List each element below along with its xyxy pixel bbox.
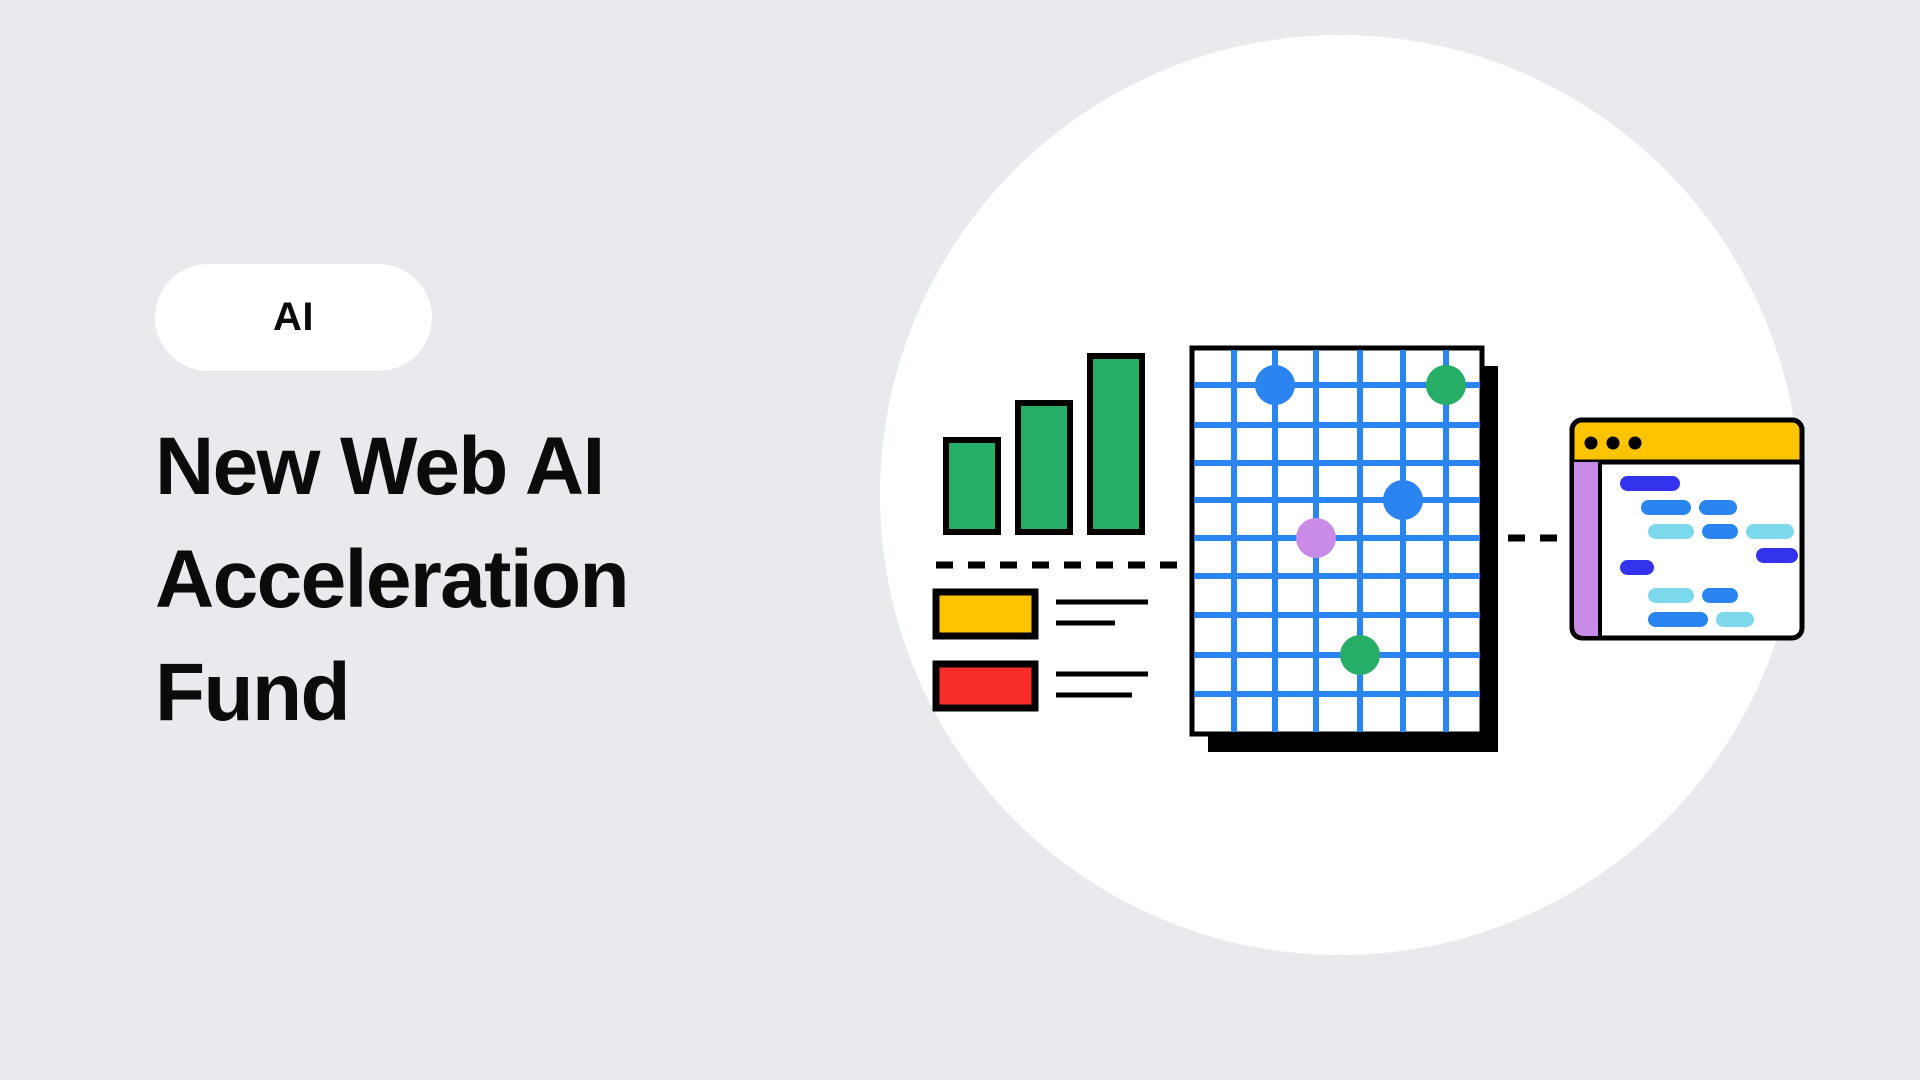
code-pill [1648, 612, 1708, 627]
code-pill [1716, 612, 1754, 627]
code-window-titlebar [1572, 420, 1802, 462]
legend-swatch-red [936, 664, 1035, 708]
code-pill [1756, 548, 1798, 563]
point-blue-top-left [1255, 365, 1295, 405]
code-pill [1648, 588, 1694, 603]
code-pill [1699, 500, 1737, 515]
page-title: New Web AI Acceleration Fund [155, 410, 835, 749]
point-green-bottom [1340, 635, 1380, 675]
bar-2 [1018, 403, 1070, 532]
page-title-line-2: Acceleration [155, 523, 835, 636]
illustration-svg [860, 0, 1920, 1080]
point-purple-mid-left [1296, 518, 1336, 558]
ascending-bar-chart [946, 356, 1142, 532]
illustration-artwork [860, 0, 1920, 1080]
code-pill [1702, 588, 1738, 603]
category-badge[interactable]: AI [155, 264, 432, 371]
code-pill [1746, 524, 1794, 539]
page-title-line-1: New Web AI [155, 410, 835, 523]
code-pill [1702, 524, 1738, 539]
window-dot-3[interactable] [1629, 437, 1642, 450]
legend-row-red [936, 664, 1148, 708]
bar-1 [946, 440, 998, 532]
code-pill [1641, 500, 1691, 515]
scatter-grid-panel [1192, 348, 1498, 752]
code-pill [1620, 560, 1654, 575]
code-window-sidebar [1574, 462, 1600, 636]
code-pill [1620, 476, 1680, 491]
legend-row-yellow [936, 592, 1148, 636]
point-green-top-right [1426, 365, 1466, 405]
legend-swatch-yellow [936, 592, 1035, 636]
window-dot-2[interactable] [1607, 437, 1620, 450]
code-editor-window[interactable] [1572, 420, 1802, 638]
hero-text-column: AI New Web AI Acceleration Fund [0, 0, 860, 1080]
category-badge-label: AI [273, 295, 314, 340]
window-dot-1[interactable] [1585, 437, 1598, 450]
point-blue-mid-right [1383, 480, 1423, 520]
hero-illustration [860, 0, 1920, 1080]
code-pill [1648, 524, 1694, 539]
bar-3 [1090, 356, 1142, 532]
page-title-line-3: Fund [155, 636, 835, 749]
